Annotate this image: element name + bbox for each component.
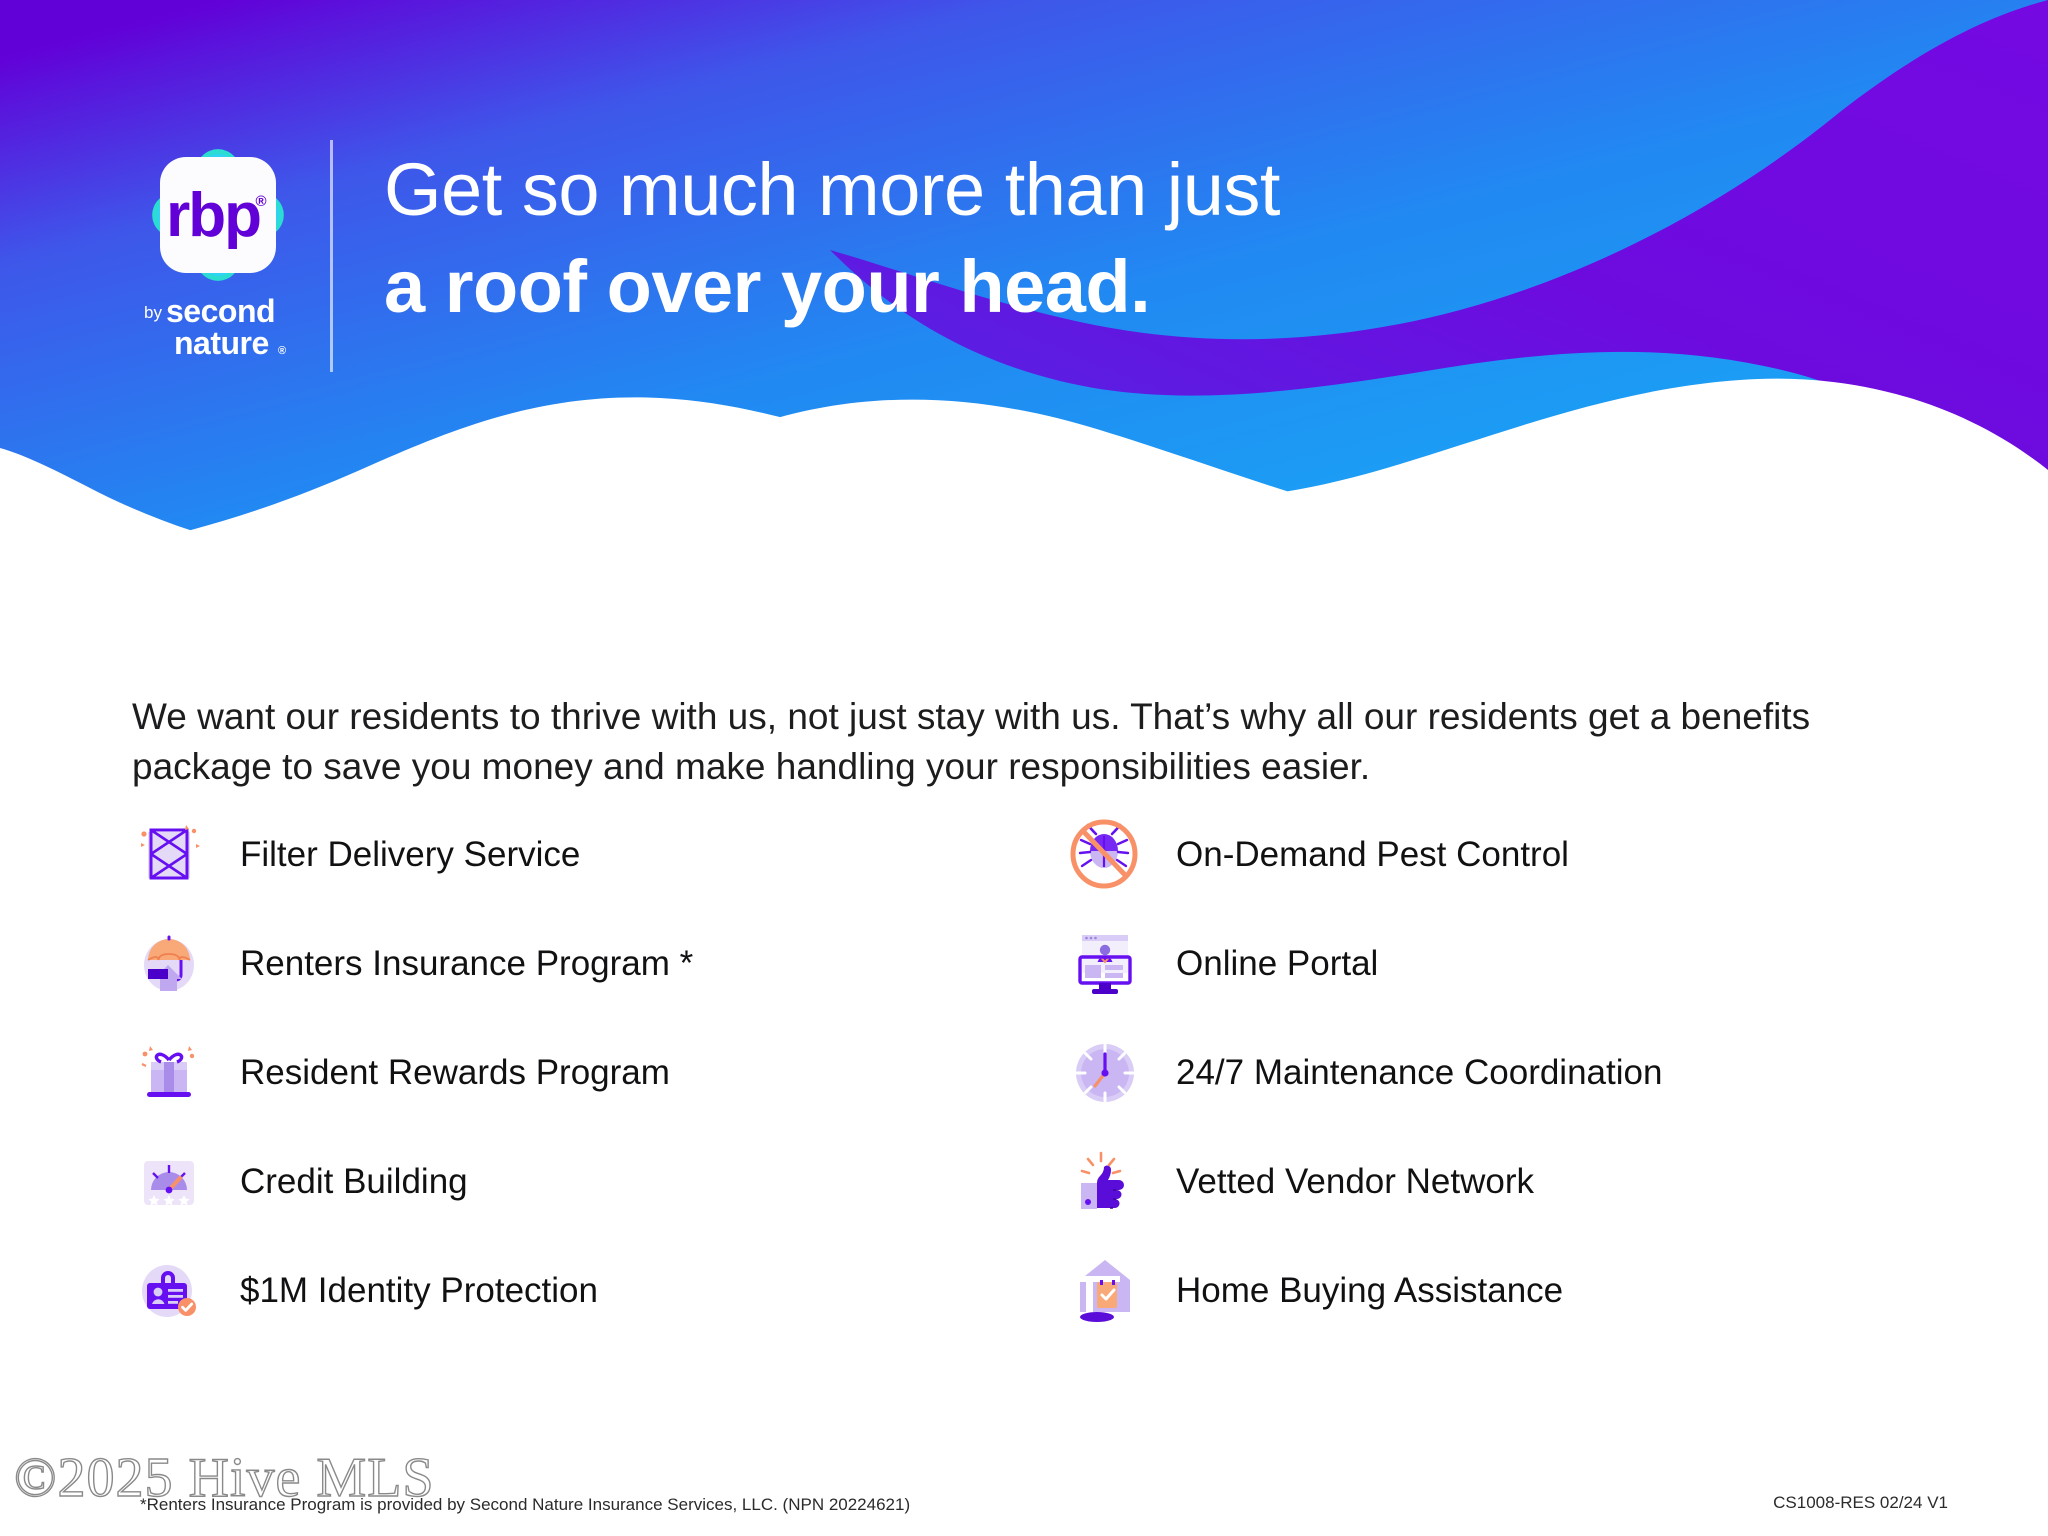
benefit-label: Online Portal [1176,944,1378,984]
benefits-right-column: On-Demand Pest Control [1068,800,1922,1345]
benefit-label: Home Buying Assistance [1176,1271,1563,1311]
benefit-item-identity-protection: $1M Identity Protection [132,1236,986,1345]
benefit-item-online-portal: Online Portal [1068,909,1922,1018]
air-filter-icon [132,818,206,892]
benefit-item-home-buying-assistance: Home Buying Assistance [1068,1236,1922,1345]
hero-banner: rbp ® by second nature ® Get so much mor… [0,0,2048,620]
benefit-item-renters-insurance-program: Renters Insurance Program * [132,909,986,1018]
intro-paragraph: We want our residents to thrive with us,… [132,692,1932,792]
benefit-label: 24/7 Maintenance Coordination [1176,1053,1662,1093]
gift-box-icon [132,1036,206,1110]
benefit-item-maintenance-coordination: 24/7 Maintenance Coordination [1068,1018,1922,1127]
benefit-item-resident-rewards-program: Resident Rewards Program [132,1018,986,1127]
no-pest-icon [1068,818,1142,892]
logo-headline-divider [330,140,333,372]
benefit-item-filter-delivery-service: Filter Delivery Service [132,800,986,909]
by-second-nature-lockup: by second nature ® [128,292,308,370]
byline-second-text: second [166,293,275,329]
footer-doc-code: CS1008-RES 02/24 V1 [1773,1492,1948,1514]
benefit-label: $1M Identity Protection [240,1271,598,1311]
id-badge-check-icon [132,1254,206,1328]
page-title: Get so much more than just a roof over y… [384,141,1634,335]
byline-registered-mark: ® [278,345,286,357]
benefit-label: Resident Rewards Program [240,1053,670,1093]
benefit-label: Renters Insurance Program * [240,944,693,984]
benefits-list: Filter Delivery Service Renters I [132,800,1922,1345]
rbp-logo-mark: rbp ® [143,140,293,290]
umbrella-house-icon [132,927,206,1001]
flyer-page: rbp ® by second nature ® Get so much mor… [0,0,2048,1536]
benefit-label: On-Demand Pest Control [1176,835,1569,875]
house-sign-icon [1068,1254,1142,1328]
byline-nature-text: nature [174,325,269,361]
thumbs-up-icon [1068,1145,1142,1219]
logo-registered-mark: ® [255,193,266,210]
credit-gauge-icon [132,1145,206,1219]
footer-disclaimer: *Renters Insurance Program is provided b… [140,1494,910,1516]
clock-icon [1068,1036,1142,1110]
byline-by-text: by [144,303,162,322]
benefit-item-pest-control: On-Demand Pest Control [1068,800,1922,909]
rbp-badge-icon: rbp ® [143,140,293,290]
benefit-label: Filter Delivery Service [240,835,580,875]
benefits-left-column: Filter Delivery Service Renters I [132,800,986,1345]
rbp-logo-byline: by second nature ® [128,292,308,370]
benefit-label: Credit Building [240,1162,468,1202]
logo-wordmark-text: rbp [166,181,260,250]
benefit-item-credit-building: Credit Building [132,1127,986,1236]
rbp-logo: rbp ® by second nature ® [128,140,308,370]
monitor-portal-icon [1068,927,1142,1001]
headline-line-2: a roof over your head. [384,238,1634,335]
benefit-item-vetted-vendor-network: Vetted Vendor Network [1068,1127,1922,1236]
benefit-label: Vetted Vendor Network [1176,1162,1534,1202]
headline-line-1: Get so much more than just [384,141,1634,238]
